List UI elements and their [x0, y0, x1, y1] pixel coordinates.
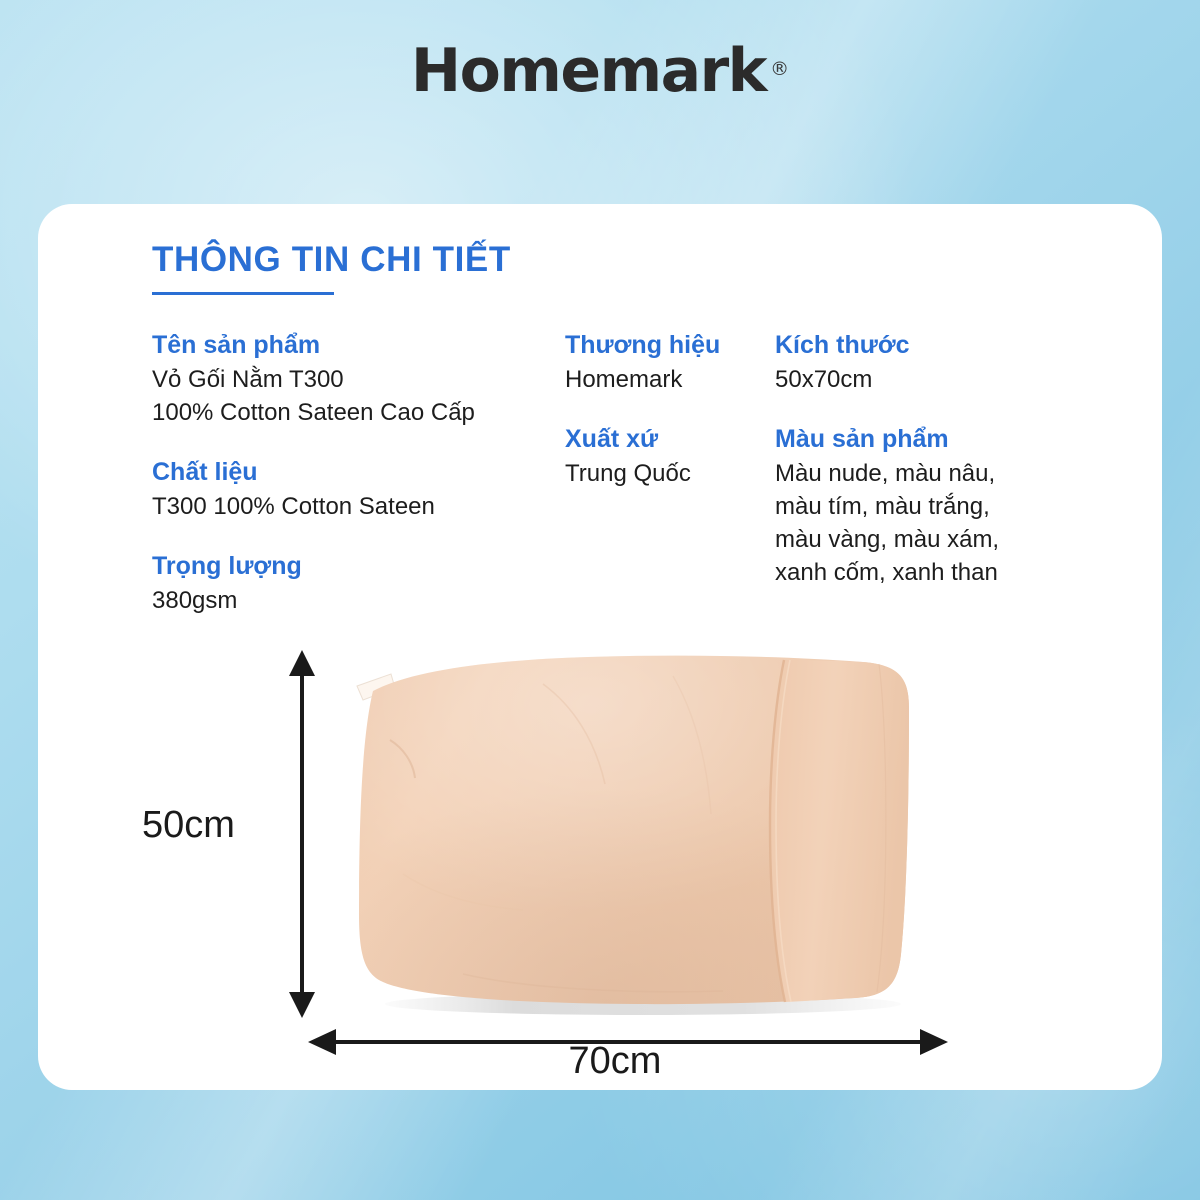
spec-column-1: Tên sản phẩm Vỏ Gối Nằm T300 100% Cotton…: [152, 328, 552, 643]
spec-value-line: màu tím, màu trắng,: [775, 490, 1075, 523]
spec-column-2: Thương hiệu Homemark Xuất xứ Trung Quốc: [565, 328, 765, 516]
spec-block-size: Kích thước 50x70cm: [775, 328, 1075, 396]
spec-label: Thương hiệu: [565, 328, 765, 363]
brand-logo: Homemark®: [0, 36, 1200, 106]
height-dimension-arrow: [282, 650, 322, 1018]
spec-label: Chất liệu: [152, 455, 552, 490]
spec-value-line: 100% Cotton Sateen Cao Cấp: [152, 396, 552, 429]
spec-label: Kích thước: [775, 328, 1075, 363]
width-dimension-label: 70cm: [38, 1040, 1162, 1083]
width-dimension-text: 70cm: [569, 1040, 662, 1083]
spec-value: Màu nude, màu nâu, màu tím, màu trắng, m…: [775, 457, 1075, 589]
poster-canvas: Homemark® THÔNG TIN CHI TIẾT Tên sản phẩ…: [0, 0, 1200, 1200]
registered-trademark-icon: ®: [770, 58, 789, 80]
spec-value-line: Trung Quốc: [565, 457, 765, 490]
spec-block-material: Chất liệu T300 100% Cotton Sateen: [152, 455, 552, 523]
spec-value-line: Vỏ Gối Nằm T300: [152, 363, 552, 396]
title-underline: [152, 292, 334, 295]
spec-label: Xuất xứ: [565, 422, 765, 457]
spec-value-line: màu vàng, màu xám,: [775, 523, 1075, 556]
page-title: THÔNG TIN CHI TIẾT: [152, 240, 511, 280]
spec-value: Vỏ Gối Nằm T300 100% Cotton Sateen Cao C…: [152, 363, 552, 429]
spec-block-brand: Thương hiệu Homemark: [565, 328, 765, 396]
brand-logo-text: Homemark: [411, 36, 766, 106]
spec-value-line: Màu nude, màu nâu,: [775, 457, 1075, 490]
spec-value: T300 100% Cotton Sateen: [152, 490, 552, 523]
product-dimension-diagram: 50cm 70cm: [38, 604, 1162, 1090]
spec-value-line: xanh cốm, xanh than: [775, 556, 1075, 589]
spec-value-line: 50x70cm: [775, 363, 1075, 396]
spec-label: Trọng lượng: [152, 549, 552, 584]
spec-label: Màu sản phẩm: [775, 422, 1075, 457]
spec-value-line: Homemark: [565, 363, 765, 396]
height-dimension-label: 50cm: [142, 804, 235, 847]
spec-column-3: Kích thước 50x70cm Màu sản phẩm Màu nude…: [775, 328, 1075, 616]
spec-value: 50x70cm: [775, 363, 1075, 396]
info-card: THÔNG TIN CHI TIẾT Tên sản phẩm Vỏ Gối N…: [38, 204, 1162, 1090]
spec-value-line: T300 100% Cotton Sateen: [152, 490, 552, 523]
pillowcase-image: [343, 644, 923, 1019]
spec-block-colors: Màu sản phẩm Màu nude, màu nâu, màu tím,…: [775, 422, 1075, 589]
spec-block-origin: Xuất xứ Trung Quốc: [565, 422, 765, 490]
spec-value: Homemark: [565, 363, 765, 396]
spec-block-product-name: Tên sản phẩm Vỏ Gối Nằm T300 100% Cotton…: [152, 328, 552, 429]
spec-label: Tên sản phẩm: [152, 328, 552, 363]
spec-value: Trung Quốc: [565, 457, 765, 490]
